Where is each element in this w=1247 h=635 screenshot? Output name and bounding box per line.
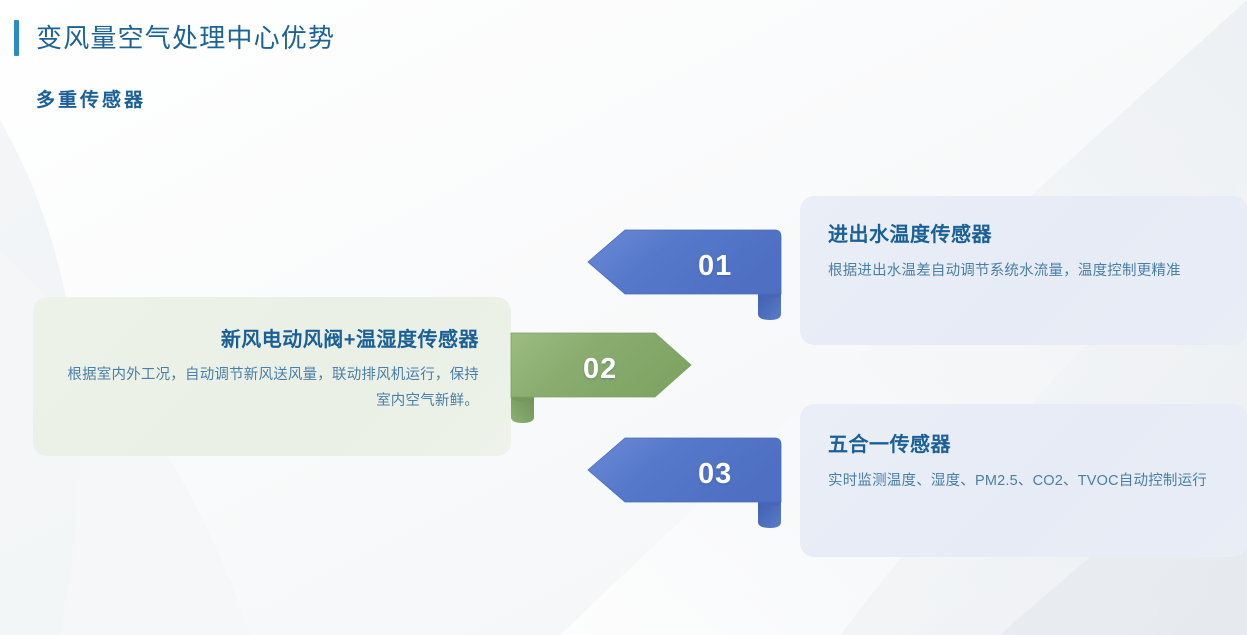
ribbon-shape-01-icon xyxy=(585,228,801,324)
ribbon-shape-03-icon xyxy=(585,436,801,532)
panel-description-01: 根据进出水温差自动调节系统水流量，温度控制更精准 xyxy=(828,258,1219,284)
info-panel-01[interactable]: 进出水温度传感器 根据进出水温差自动调节系统水流量，温度控制更精准 xyxy=(800,196,1247,345)
panel-title-01: 进出水温度传感器 xyxy=(828,218,1219,247)
ribbon-arrow-01[interactable]: 01 xyxy=(585,228,801,324)
info-panel-02[interactable]: 新风电动风阀+温湿度传感器 根据室内外工况，自动调节新风送风量，联动排风机运行，… xyxy=(33,297,511,456)
panel-description-02: 根据室内外工况，自动调节新风送风量，联动排风机运行，保持室内空气新鲜。 xyxy=(57,362,479,414)
info-panel-03[interactable]: 五合一传感器 实时监测温度、湿度、PM2.5、CO2、TVOC自动控制运行 xyxy=(800,404,1247,557)
ribbon-shape-02-icon xyxy=(508,331,698,427)
ribbon-arrow-02[interactable]: 02 xyxy=(508,331,698,427)
accent-bar xyxy=(14,20,19,56)
panel-title-03: 五合一传感器 xyxy=(828,428,1219,457)
page-subtitle: 多重传感器 xyxy=(36,85,146,112)
title-row: 变风量空气处理中心优势 xyxy=(14,20,335,56)
page-title: 变风量空气处理中心优势 xyxy=(36,20,335,56)
ribbon-arrow-03[interactable]: 03 xyxy=(585,436,801,532)
panel-title-02: 新风电动风阀+温湿度传感器 xyxy=(57,323,479,352)
panel-description-03: 实时监测温度、湿度、PM2.5、CO2、TVOC自动控制运行 xyxy=(828,468,1219,494)
